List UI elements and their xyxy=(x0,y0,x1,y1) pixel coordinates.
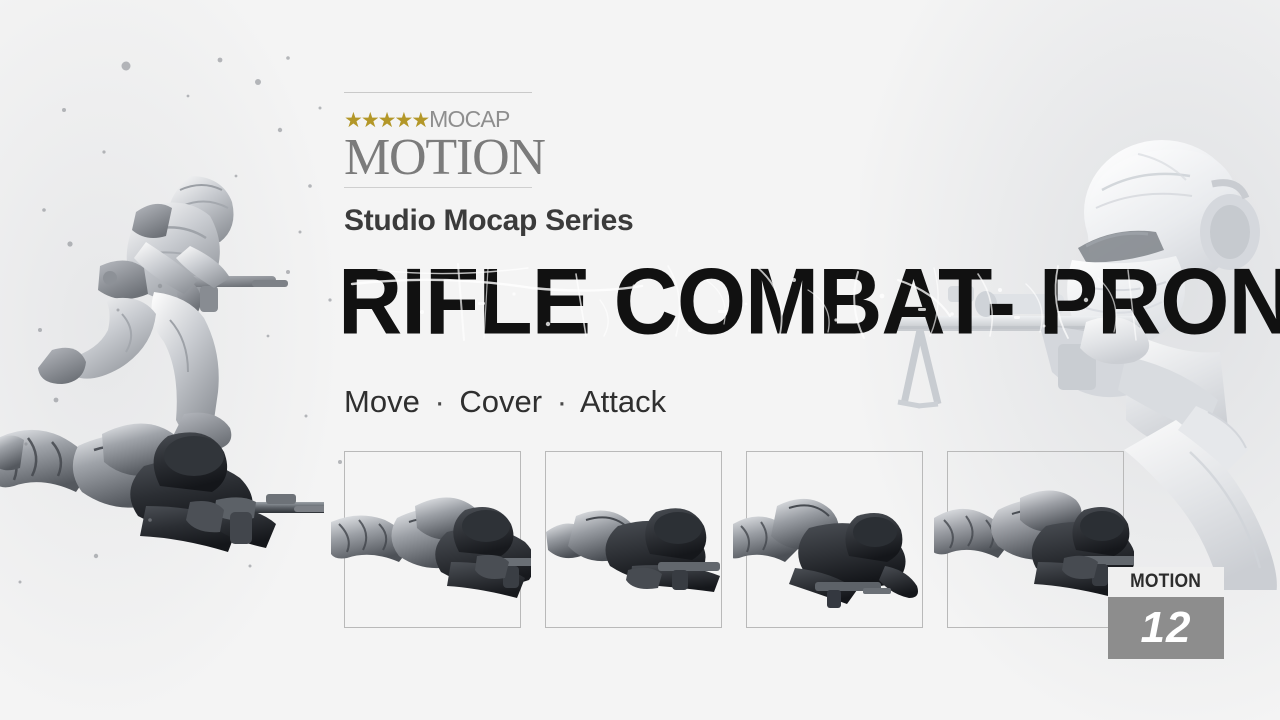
figure-group-left xyxy=(0,150,324,570)
thumbnail-prone-aim-forward[interactable] xyxy=(344,451,521,628)
motion-badge-header: MOTION xyxy=(1108,567,1224,597)
subtitle-item-move: Move xyxy=(344,384,420,419)
background-wash-left xyxy=(0,0,340,720)
brand-mocap-word: MOCAP xyxy=(429,108,509,131)
subtitle-separator: · xyxy=(428,384,450,419)
star-icon: ★ xyxy=(378,110,396,131)
thumbnail-strip xyxy=(344,451,1124,628)
motion-badge-number: 12 xyxy=(1141,606,1192,650)
subtitle-item-cover: Cover xyxy=(459,384,542,419)
star-icon: ★ xyxy=(411,110,429,131)
figure-prone-soldier xyxy=(0,423,324,552)
subtitle: Move · Cover · Attack xyxy=(344,384,666,420)
series-label: Studio Mocap Series xyxy=(344,204,633,238)
poster-canvas: ★ ★ ★ ★ ★ MOCAP MOTION Studio Mocap Seri… xyxy=(0,0,1280,720)
page-title: RIFLE COMBAT- PRONE xyxy=(338,256,1197,346)
thumbnail-prone-roll-side[interactable] xyxy=(545,451,722,628)
motion-badge: MOTION 12 xyxy=(1108,567,1224,659)
thumbnail-prone-crawl-push[interactable] xyxy=(746,451,923,628)
subtitle-item-attack: Attack xyxy=(580,384,666,419)
star-icon: ★ xyxy=(361,110,379,131)
star-icon: ★ xyxy=(394,110,412,131)
motion-badge-label: MOTION xyxy=(1130,571,1201,593)
logo-top-row: ★ ★ ★ ★ ★ MOCAP xyxy=(344,101,532,131)
brand-logo: ★ ★ ★ ★ ★ MOCAP MOTION xyxy=(344,92,532,188)
logo-rule-top xyxy=(344,92,532,93)
figure-jumping-soldier xyxy=(38,176,288,450)
subtitle-separator: · xyxy=(551,384,573,419)
motion-badge-body: 12 xyxy=(1108,597,1224,659)
thumbnail-prone-aim-low[interactable] xyxy=(947,451,1124,628)
stars-rating: ★ ★ ★ ★ ★ xyxy=(344,110,428,131)
main-title-wrap: RIFLE COMBAT- PRONE xyxy=(338,256,1148,348)
brand-motion-word: MOTION xyxy=(344,133,532,183)
logo-rule-bottom xyxy=(344,187,532,188)
star-icon: ★ xyxy=(344,110,362,131)
debris-specks xyxy=(0,0,360,620)
